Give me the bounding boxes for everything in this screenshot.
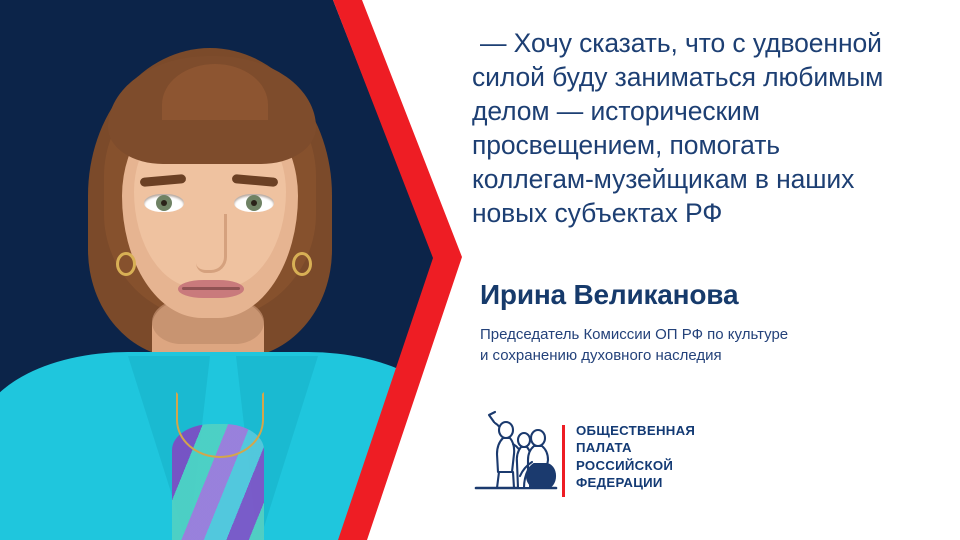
logo-line: ФЕДЕРАЦИИ — [576, 474, 695, 491]
earring-left-shape — [116, 252, 136, 276]
quote-card: — Хочу сказать, что с удвоенной силой бу… — [0, 0, 960, 540]
iris-right-shape — [246, 195, 262, 211]
iris-left-shape — [156, 195, 172, 211]
organization-logo: ОБЩЕСТВЕННАЯ ПАЛАТА РОССИЙСКОЙ ФЕДЕРАЦИИ — [472, 404, 772, 504]
quote-line: новых субъектах РФ — [472, 196, 934, 230]
earring-right-shape — [292, 252, 312, 276]
fringe-shape — [108, 56, 316, 164]
mouth-shape — [178, 280, 244, 298]
speaker-name: Ирина Великанова — [480, 279, 738, 311]
eye-right-shape — [234, 194, 274, 212]
quote-text: — Хочу сказать, что с удвоенной силой бу… — [472, 26, 934, 230]
quote-line: силой буду заниматься любимым — [472, 60, 934, 94]
portrait-panel — [0, 0, 440, 540]
nose-shape — [196, 214, 227, 273]
logo-line: РОССИЙСКОЙ — [576, 457, 695, 474]
quote-line: делом — историческим — [472, 94, 934, 128]
quote-line: коллегам-музейщикам в наших — [472, 162, 934, 196]
speaker-title-line: и сохранению духовного наследия — [480, 345, 788, 366]
eye-left-shape — [144, 194, 184, 212]
speaker-title-line: Председатель Комиссии ОП РФ по культуре — [480, 324, 788, 345]
logo-red-rule — [562, 425, 565, 497]
quote-line: просвещением, помогать — [472, 128, 934, 162]
speaker-title: Председатель Комиссии ОП РФ по культуре … — [480, 324, 788, 366]
logo-line: ПАЛАТА — [576, 439, 695, 456]
classical-figures-emblem-icon — [472, 404, 560, 496]
content-panel: — Хочу сказать, что с удвоенной силой бу… — [472, 0, 942, 540]
logo-wordmark: ОБЩЕСТВЕННАЯ ПАЛАТА РОССИЙСКОЙ ФЕДЕРАЦИИ — [576, 422, 695, 492]
speaker-portrait-image — [0, 0, 440, 540]
quote-line: — Хочу сказать, что с удвоенной — [472, 26, 934, 60]
logo-line: ОБЩЕСТВЕННАЯ — [576, 422, 695, 439]
